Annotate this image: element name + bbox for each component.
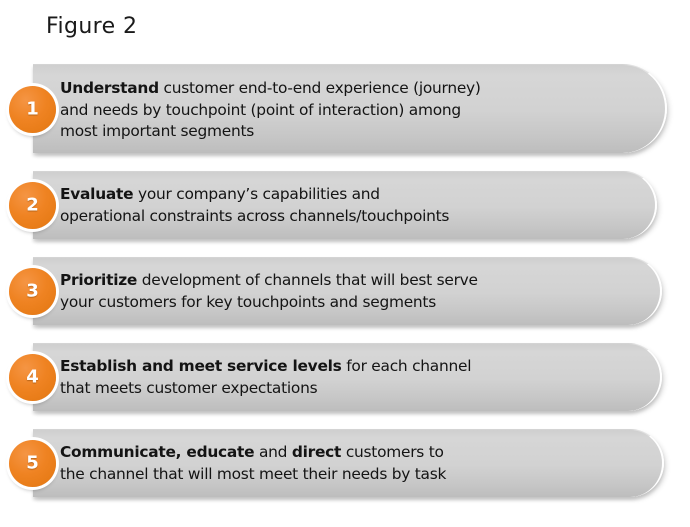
figure-container: Figure 2 1Understand customer end-to-end… — [0, 0, 690, 527]
step-text-emphasis: Prioritize — [60, 271, 137, 289]
step-number-badge-2[interactable]: 2 — [9, 182, 56, 229]
step-row[interactable]: 2Evaluate your company’s capabilities an… — [0, 164, 690, 250]
step-number-label: 2 — [26, 196, 39, 214]
step-row[interactable]: 1Understand customer end-to-end experien… — [0, 57, 690, 164]
step-text-line: Prioritize development of channels that … — [60, 270, 478, 292]
step-text: Establish and meet service levels for ea… — [60, 356, 471, 399]
step-row[interactable]: 5Communicate, educate and direct custome… — [0, 422, 690, 508]
step-text-line: Understand customer end-to-end experienc… — [60, 78, 481, 100]
step-text-line: Evaluate your company’s capabilities and — [60, 184, 449, 206]
step-text-emphasis: direct — [292, 443, 341, 461]
step-number-badge-3[interactable]: 3 — [9, 268, 56, 315]
step-number-label: 3 — [26, 282, 39, 300]
step-number-badge-1[interactable]: 1 — [9, 86, 56, 133]
step-row[interactable]: 3Prioritize development of channels that… — [0, 250, 690, 336]
step-text-line: that meets customer expectations — [60, 378, 471, 400]
page-title: Figure 2 — [46, 16, 137, 38]
step-text-line: Communicate, educate and direct customer… — [60, 442, 446, 464]
step-text-emphasis: Communicate, educate — [60, 443, 254, 461]
step-text: Prioritize development of channels that … — [60, 270, 478, 313]
step-text: Evaluate your company’s capabilities and… — [60, 184, 449, 227]
step-text-emphasis: Establish and meet service levels — [60, 357, 342, 375]
step-text-line: and needs by touchpoint (point of intera… — [60, 100, 481, 122]
step-row[interactable]: 4Establish and meet service levels for e… — [0, 336, 690, 422]
step-text: Communicate, educate and direct customer… — [60, 442, 446, 485]
step-text-line: your customers for key touchpoints and s… — [60, 292, 478, 314]
step-text-line: operational constraints across channels/… — [60, 206, 449, 228]
step-number-label: 4 — [26, 368, 39, 386]
step-text-line: most important segments — [60, 121, 481, 143]
step-number-badge-5[interactable]: 5 — [9, 440, 56, 487]
step-text-emphasis: Understand — [60, 79, 159, 97]
step-text-line: Establish and meet service levels for ea… — [60, 356, 471, 378]
steps-list: 1Understand customer end-to-end experien… — [0, 57, 690, 508]
step-text-emphasis: Evaluate — [60, 185, 133, 203]
step-number-label: 5 — [26, 454, 39, 472]
step-number-label: 1 — [26, 100, 39, 118]
step-text-line: the channel that will most meet their ne… — [60, 464, 446, 486]
step-number-badge-4[interactable]: 4 — [9, 354, 56, 401]
step-text: Understand customer end-to-end experienc… — [60, 78, 481, 143]
